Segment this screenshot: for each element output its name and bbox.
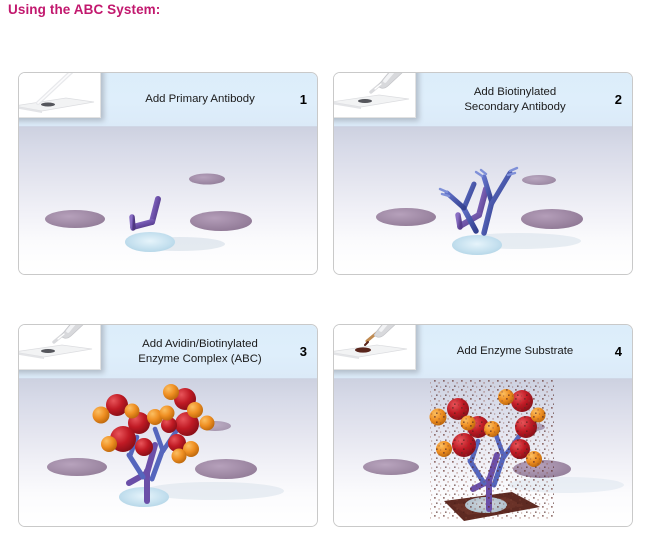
panel-card: Add Enzyme Substrate 4 (333, 324, 633, 527)
dropper-bottle-brown-stain-icon (333, 324, 415, 369)
thumbnail-dropper-bottle (333, 72, 416, 118)
panel-card: Add Avidin/Biotinylated Enzyme Complex (… (18, 324, 318, 527)
chromogen-precipitate-scene (334, 379, 632, 526)
thumbnail-pipette-over-slide (18, 72, 101, 118)
panel-card: Add Primary Antibody 1 (18, 72, 318, 275)
biotin-enzyme-sphere (187, 402, 203, 418)
panel-step-number: 3 (293, 344, 307, 359)
step-panel-4: Add Enzyme Substrate 4 (333, 324, 635, 529)
panel-step-number: 4 (608, 344, 622, 359)
tissue-spot (376, 208, 436, 226)
secondary-antibody (484, 173, 510, 233)
secondary-antibody-scene (334, 127, 632, 274)
panel-illustration (19, 127, 317, 274)
step-panel-2: Add Biotinylated Secondary Antibody 2 (333, 72, 635, 277)
tissue-spot (47, 458, 107, 476)
panel-label: Add Avidin/Biotinylated Enzyme Complex (… (115, 337, 293, 366)
tissue-spot (190, 211, 252, 231)
substrate-speckle-cloud (430, 379, 554, 519)
tissue-spot (45, 210, 105, 228)
tissue-spot (521, 209, 583, 229)
tissue-spot (363, 459, 419, 475)
pipette-over-slide-icon (18, 72, 100, 117)
abc-complex-scene (19, 379, 317, 526)
thumbnail-dropper-bottle (18, 324, 101, 370)
tissue-spot (195, 459, 257, 479)
avidin-sphere (135, 438, 153, 456)
brown-stain (355, 347, 371, 352)
biotin-enzyme-sphere (172, 449, 187, 464)
panel-illustration (19, 379, 317, 526)
panel-step-number: 1 (293, 92, 307, 107)
tissue-spot (189, 174, 225, 185)
panel-illustration (334, 379, 632, 526)
primary-antibody-scene (19, 127, 317, 274)
biotin-enzyme-sphere (125, 404, 140, 419)
step-panel-1: Add Primary Antibody 1 (18, 72, 320, 277)
dropper-bottle-over-slide-icon (333, 72, 415, 117)
biotin-enzyme-sphere (200, 416, 215, 431)
panel-step-number: 2 (608, 92, 622, 107)
biotin-enzyme-sphere (163, 384, 179, 400)
panel-label: Add Enzyme Substrate (430, 344, 608, 359)
tissue-spot (522, 175, 556, 185)
panel-card: Add Biotinylated Secondary Antibody 2 (333, 72, 633, 275)
dropper-bottle-over-slide-icon (18, 324, 100, 369)
panel-label: Add Primary Antibody (115, 92, 293, 107)
panel-illustration (334, 127, 632, 274)
thumbnail-dropper-bottle-stain (333, 324, 416, 370)
biotin-enzyme-sphere (160, 406, 175, 421)
panel-grid: Add Primary Antibody 1 (0, 0, 650, 547)
biotin-enzyme-sphere (101, 436, 117, 452)
step-panel-3: Add Avidin/Biotinylated Enzyme Complex (… (18, 324, 320, 529)
biotin-enzyme-sphere (93, 407, 110, 424)
panel-label: Add Biotinylated Secondary Antibody (430, 85, 608, 114)
